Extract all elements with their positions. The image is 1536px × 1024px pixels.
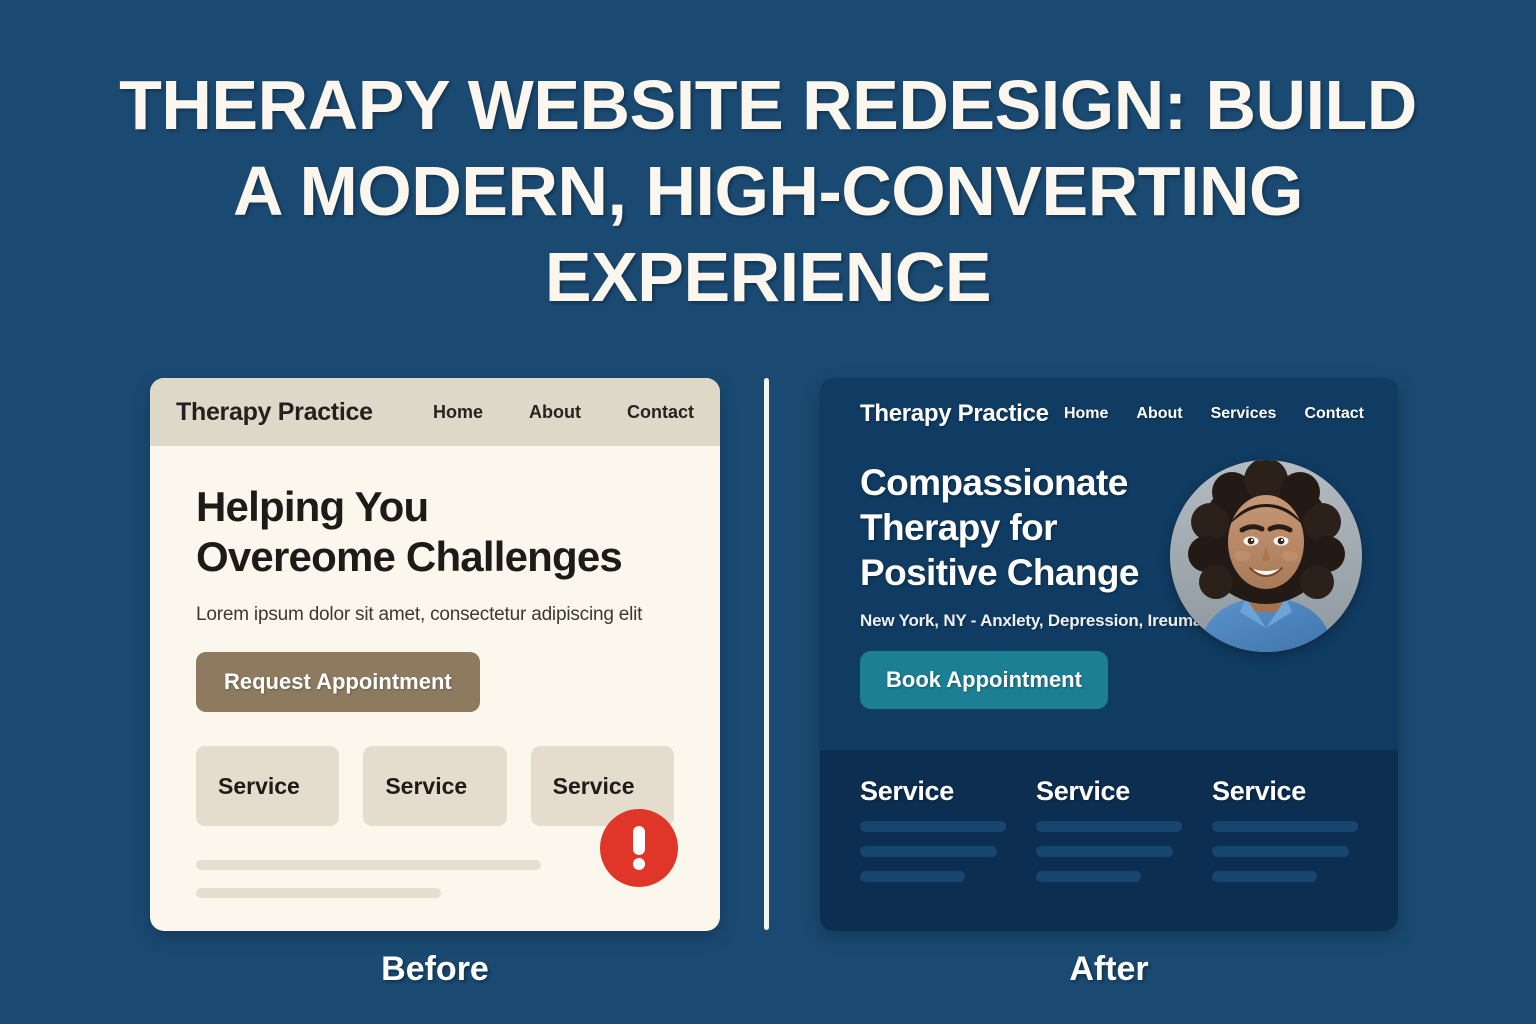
after-services-row: Service Service Service bbox=[820, 750, 1398, 882]
after-service-column[interactable]: Service bbox=[1036, 776, 1182, 882]
after-hero-heading: Compassionate Therapy for Positive Chang… bbox=[860, 460, 1170, 595]
before-brand-logo: Therapy Practice bbox=[176, 398, 373, 427]
before-hero-heading: Helping You Overeome Challenges bbox=[196, 482, 674, 582]
exclamation-icon bbox=[633, 826, 645, 855]
before-nav-item-contact[interactable]: Contact bbox=[627, 402, 694, 423]
after-service-column[interactable]: Service bbox=[860, 776, 1006, 882]
after-skeleton-line bbox=[860, 846, 997, 857]
after-hero-heading-line3: Positive Change bbox=[860, 550, 1170, 595]
after-caption: After bbox=[820, 950, 1398, 989]
after-service-label: Service bbox=[1212, 776, 1358, 807]
before-service-card[interactable]: Service bbox=[363, 746, 506, 826]
before-service-label: Service bbox=[385, 773, 467, 800]
after-service-label: Service bbox=[860, 776, 1006, 807]
therapist-portrait bbox=[1170, 460, 1362, 652]
before-nav-item-home[interactable]: Home bbox=[433, 402, 483, 423]
before-hero-heading-line1: Helping You bbox=[196, 482, 674, 532]
before-caption: Before bbox=[150, 950, 720, 989]
before-service-label: Service bbox=[553, 773, 635, 800]
before-nav-item-about[interactable]: About bbox=[529, 402, 581, 423]
before-placeholder-text-lines bbox=[196, 860, 674, 898]
after-hero-section: Therapy Practice Home About Services Con… bbox=[820, 378, 1398, 750]
after-nav-item-about[interactable]: About bbox=[1136, 405, 1182, 423]
after-skeleton-line bbox=[1212, 821, 1358, 832]
before-navbar: Therapy Practice Home About Contact bbox=[150, 378, 720, 446]
before-placeholder-line bbox=[196, 888, 441, 898]
after-skeleton-line bbox=[1036, 846, 1173, 857]
before-service-label: Service bbox=[218, 773, 300, 800]
before-nav-links: Home About Contact bbox=[433, 402, 694, 423]
after-skeleton-line bbox=[1212, 846, 1349, 857]
after-skeleton-line bbox=[1036, 871, 1141, 882]
after-brand-logo: Therapy Practice bbox=[860, 400, 1049, 428]
before-service-card[interactable]: Service bbox=[196, 746, 339, 826]
book-appointment-button[interactable]: Book Appointment bbox=[860, 651, 1108, 709]
after-service-label: Service bbox=[1036, 776, 1182, 807]
after-hero-heading-line1: Compassionate bbox=[860, 460, 1170, 505]
before-mockup-card: Therapy Practice Home About Contact Help… bbox=[150, 378, 720, 931]
after-skeleton-line bbox=[860, 871, 965, 882]
request-appointment-button[interactable]: Request Appointment bbox=[196, 652, 480, 712]
panel-divider bbox=[764, 378, 769, 930]
page-title: Therapy Website Redesign: Build a Modern… bbox=[0, 62, 1536, 320]
after-mockup-card: Therapy Practice Home About Services Con… bbox=[820, 378, 1398, 931]
before-placeholder-line bbox=[196, 860, 541, 870]
error-badge bbox=[600, 809, 678, 887]
before-card-body: Helping You Overeome Challenges Lorem ip… bbox=[150, 446, 720, 931]
after-skeleton-line bbox=[1036, 821, 1182, 832]
after-service-column[interactable]: Service bbox=[1212, 776, 1358, 882]
after-nav-item-contact[interactable]: Contact bbox=[1304, 405, 1364, 423]
after-nav-links: Home About Services Contact bbox=[1064, 405, 1364, 423]
after-nav-item-services[interactable]: Services bbox=[1211, 405, 1277, 423]
after-nav-item-home[interactable]: Home bbox=[1064, 405, 1108, 423]
before-services-row: Service Service Service bbox=[196, 746, 674, 826]
after-skeleton-line bbox=[860, 821, 1006, 832]
before-hero-subtitle: Lorem ipsum dolor sit amet, consectetur … bbox=[196, 604, 674, 626]
before-hero-heading-line2: Overeome Challenges bbox=[196, 532, 674, 582]
after-navbar: Therapy Practice Home About Services Con… bbox=[860, 400, 1364, 428]
after-hero-heading-line2: Therapy for bbox=[860, 505, 1170, 550]
after-skeleton-line bbox=[1212, 871, 1317, 882]
exclamation-dot-icon bbox=[633, 858, 645, 870]
